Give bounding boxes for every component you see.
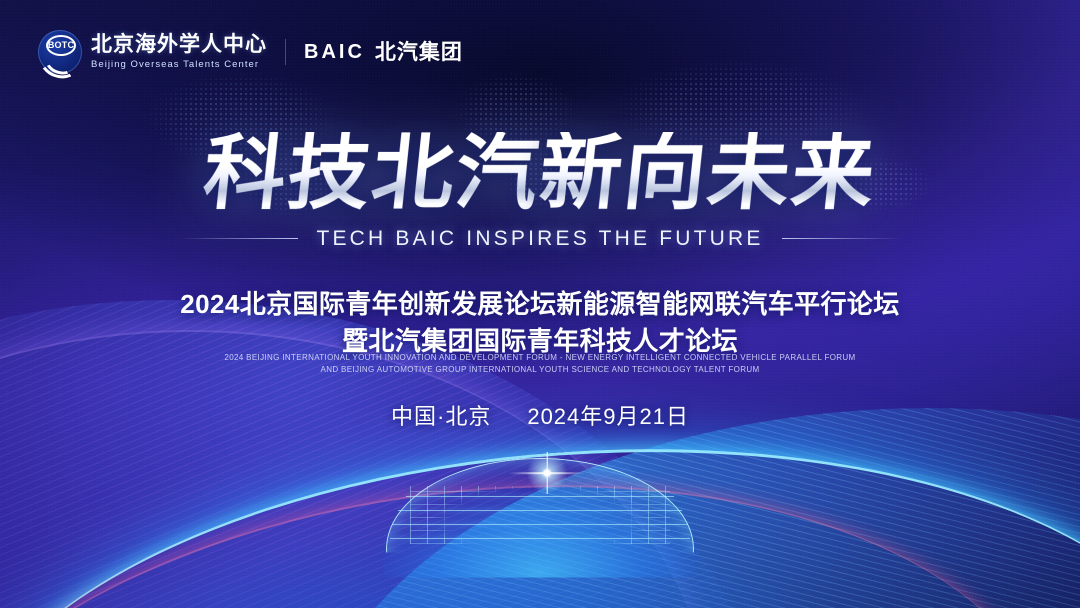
- globe-dome: [380, 456, 700, 608]
- background-light-ribbon: [0, 408, 1080, 608]
- tagline-rule-right: [782, 238, 900, 239]
- botc-emblem-text: BOTC: [48, 41, 74, 50]
- baic-english-name: BAIC: [304, 42, 365, 62]
- botc-emblem-icon: BOTC: [38, 30, 82, 74]
- logo-divider: [285, 39, 286, 65]
- tagline-text: TECH BAIC INSPIRES THE FUTURE: [316, 228, 763, 249]
- event-date: 2024年9月21日: [527, 406, 689, 428]
- globe-grid-panels: [410, 486, 670, 544]
- main-title-part1: 科技北汽: [200, 132, 545, 216]
- poster-canvas: BOTC 北京海外学人中心 Beijing Overseas Talents C…: [0, 0, 1080, 608]
- logo-bar: BOTC 北京海外学人中心 Beijing Overseas Talents C…: [38, 30, 463, 74]
- globe-latitude-line: [392, 524, 688, 525]
- tagline-rule-left: [180, 238, 298, 239]
- forum-name-english-line2: AND BEIJING AUTOMOTIVE GROUP INTERNATION…: [0, 364, 1080, 376]
- logo-baic: BAIC 北汽集团: [304, 42, 463, 63]
- sparkle-icon: [524, 450, 570, 496]
- logo-botc: BOTC 北京海外学人中心 Beijing Overseas Talents C…: [38, 30, 267, 74]
- event-meta-row: 中国·北京 2024年9月21日: [0, 406, 1080, 428]
- background-arc-right: [300, 408, 1080, 608]
- main-title-block: 科技北汽新向未来: [0, 132, 1080, 216]
- globe-latitude-line: [406, 496, 674, 497]
- botc-chinese-name: 北京海外学人中心: [91, 34, 267, 56]
- forum-name-english-line1: 2024 BEIJING INTERNATIONAL YOUTH INNOVAT…: [0, 352, 1080, 364]
- event-location: 中国·北京: [391, 406, 491, 428]
- botc-english-name: Beijing Overseas Talents Center: [91, 59, 267, 70]
- forum-name-chinese-line1: 2024北京国际青年创新发展论坛新能源智能网联汽车平行论坛: [0, 286, 1080, 323]
- globe-rim: [386, 458, 694, 608]
- globe-latitude-line: [390, 538, 690, 539]
- baic-chinese-name: 北汽集团: [375, 42, 463, 63]
- tagline-row: TECH BAIC INSPIRES THE FUTURE: [0, 228, 1080, 249]
- background-magenta-ribbon: [0, 421, 1055, 608]
- forum-name-chinese: 2024北京国际青年创新发展论坛新能源智能网联汽车平行论坛 暨北汽集团国际青年科…: [0, 286, 1080, 360]
- main-title-part2: 新向未来: [536, 132, 881, 216]
- globe-graphic: [380, 456, 700, 606]
- globe-latitude-line: [398, 510, 682, 511]
- forum-name-english: 2024 BEIJING INTERNATIONAL YOUTH INNOVAT…: [0, 352, 1080, 375]
